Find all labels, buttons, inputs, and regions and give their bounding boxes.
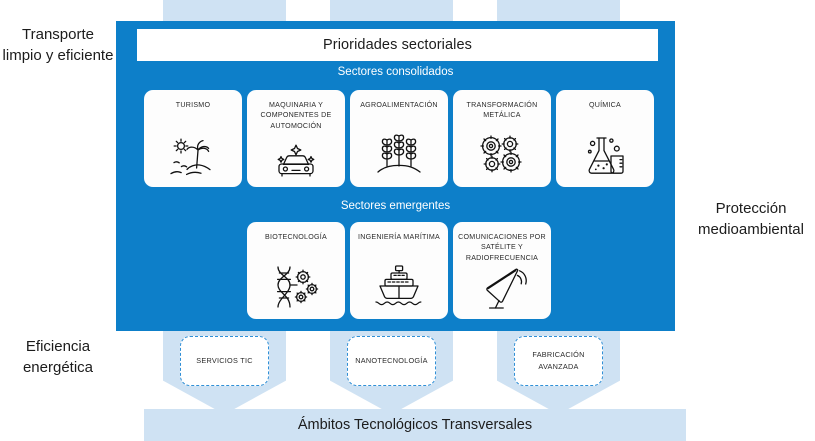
diagram-canvas: Prioridades sectoriales Sectores consoli…	[0, 0, 815, 441]
ship-icon	[373, 264, 425, 310]
background-band-1	[163, 0, 286, 21]
sector-card-quimica[interactable]: QUÍMICA	[556, 90, 654, 187]
cross-cutting-label: SERVICIOS TIC	[196, 355, 253, 367]
car-sparkle-icon	[270, 144, 322, 178]
sector-card-label: TURISMO	[148, 100, 238, 110]
sector-card-comunicaciones[interactable]: COMUNICACIONES POR SATÉLITE Y RADIOFRECU…	[453, 222, 551, 319]
sector-card-label: COMUNICACIONES POR SATÉLITE Y RADIOFRECU…	[457, 232, 547, 263]
panel-title-bar: Prioridades sectoriales	[137, 29, 658, 61]
panel-title: Prioridades sectoriales	[323, 37, 472, 53]
background-band-3	[497, 0, 620, 21]
cross-cutting-box-servicios-tic[interactable]: SERVICIOS TIC	[180, 336, 269, 386]
sector-card-label: TRANSFORMACIÓN METÁLICA	[457, 100, 547, 121]
caption-proteccion-medioambiental: Protección medioambiental	[690, 198, 812, 241]
section-label-consolidated: Sectores consolidados	[116, 66, 675, 78]
sector-card-label: BIOTECNOLOGÍA	[251, 232, 341, 242]
background-band-2	[330, 0, 453, 21]
caption-transporte-limpio: Transporte limpio y eficiente	[2, 24, 114, 67]
sector-card-agroalimentacion[interactable]: AGROALIMENTACIÓN	[350, 90, 448, 187]
cross-cutting-label: NANOTECNOLOGÍA	[355, 355, 427, 367]
beach-palm-sun-icon	[167, 136, 219, 178]
sector-card-ingenieria-maritima[interactable]: INGENIERÍA MARÍTIMA	[350, 222, 448, 319]
cross-cutting-box-fabricacion-avanzada[interactable]: FABRICACIÓN AVANZADA	[514, 336, 603, 386]
wheat-stalks-icon	[373, 134, 425, 178]
sector-card-label: QUÍMICA	[560, 100, 650, 110]
caption-eficiencia-energetica: Eficiencia energética	[2, 336, 114, 379]
gears-icon	[477, 134, 527, 178]
bottom-bar-label: Ámbitos Tecnológicos Transversales	[298, 417, 532, 433]
flask-beaker-icon	[580, 134, 630, 178]
section-label-emerging: Sectores emergentes	[116, 200, 675, 212]
sector-card-label: AGROALIMENTACIÓN	[354, 100, 444, 110]
sector-card-label: INGENIERÍA MARÍTIMA	[354, 232, 444, 242]
cross-cutting-bottom-bar: Ámbitos Tecnológicos Transversales	[144, 409, 686, 441]
sector-card-transformacion-metalica[interactable]: TRANSFORMACIÓN METÁLICA	[453, 90, 551, 187]
sector-card-biotecnologia[interactable]: BIOTECNOLOGÍA	[247, 222, 345, 319]
satellite-dish-icon	[476, 266, 528, 310]
sector-card-label: MAQUINARIA Y COMPONENTES DE AUTOMOCIÓN	[251, 100, 341, 131]
sector-card-turismo[interactable]: TURISMO	[144, 90, 242, 187]
cross-cutting-label: FABRICACIÓN AVANZADA	[515, 349, 602, 372]
cross-cutting-box-nanotecnologia[interactable]: NANOTECNOLOGÍA	[347, 336, 436, 386]
dna-gears-icon	[270, 264, 322, 310]
sector-card-maquinaria[interactable]: MAQUINARIA Y COMPONENTES DE AUTOMOCIÓN	[247, 90, 345, 187]
